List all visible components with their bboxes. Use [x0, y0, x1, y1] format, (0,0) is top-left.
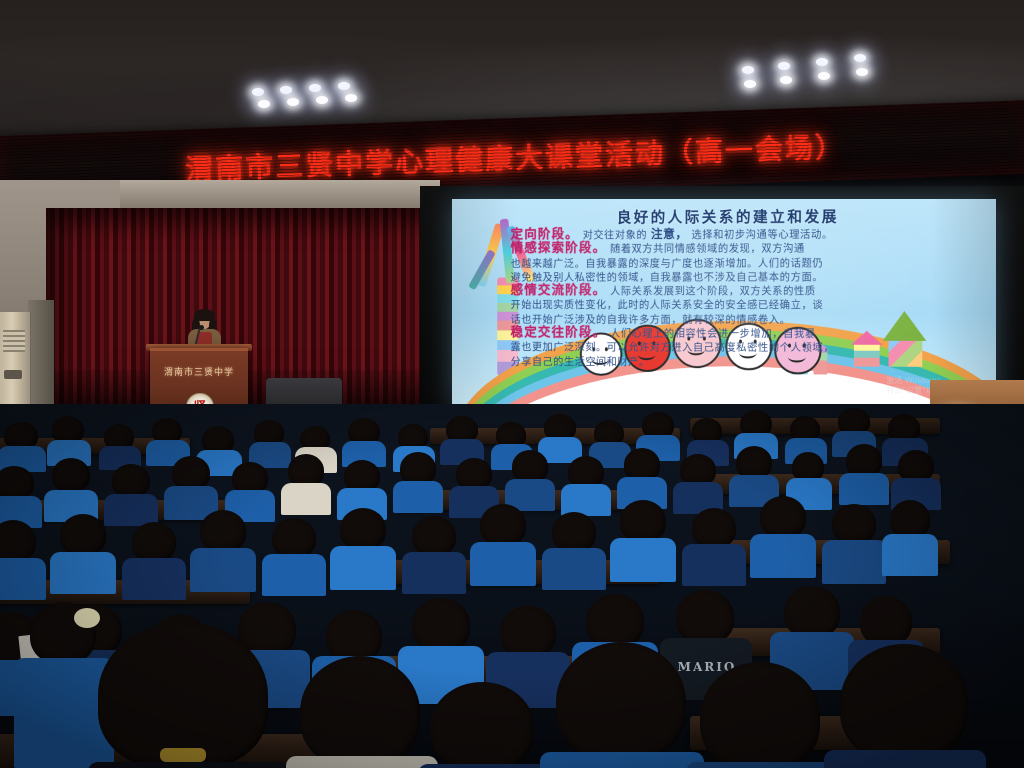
air-conditioner-vent [3, 330, 25, 352]
slide-line-3: 也越来越广泛。自我暴露的深度与广度也逐渐增加。人们的话题仍 [511, 256, 982, 271]
podium-school-name: 渭南市三贤中学 [150, 365, 248, 378]
slide-line-1: 定向阶段。 对交往对象的 注意， 选择和初步沟通等心理活动。 [511, 226, 982, 243]
slide-title: 良好的人际关系的建立和发展 [465, 205, 996, 228]
slide-line-9: 露也更加广泛深刻。可以允许对方进入自己高度私密性的个人领域， [511, 341, 982, 356]
slide-body: 定向阶段。 对交往对象的 注意， 选择和初步沟通等心理活动。 情感探索阶段。 随… [511, 226, 982, 370]
audience-area: MARIO [0, 404, 1024, 768]
slide-line-10: 分享自己的生活空间和财产。 [511, 355, 982, 370]
air-conditioner-panel[interactable] [4, 370, 22, 379]
slide-line-6: 开始出现实质性变化，此时的人际关系安全的安全感已经确立，谈 [511, 298, 982, 312]
microphone-head [199, 325, 204, 330]
auditorium-photo: 渭南市三贤中学心理健康大课堂活动（高一会场） 渭南市三贤中学 贤 [0, 0, 1024, 768]
hair-tie [160, 748, 206, 762]
slide-line-2: 情感探索阶段。 随着双方共同情感领域的发现，双方沟通 [511, 241, 982, 256]
slide-line-8: 稳定交往阶段。 人们心理上的相容性会进一步增加，自我暴 [511, 327, 982, 342]
hair-scrunchie [74, 608, 100, 628]
slide-line-5: 感情交流阶段。 人际关系发展到这个阶段，双方关系的性质 [511, 284, 982, 298]
